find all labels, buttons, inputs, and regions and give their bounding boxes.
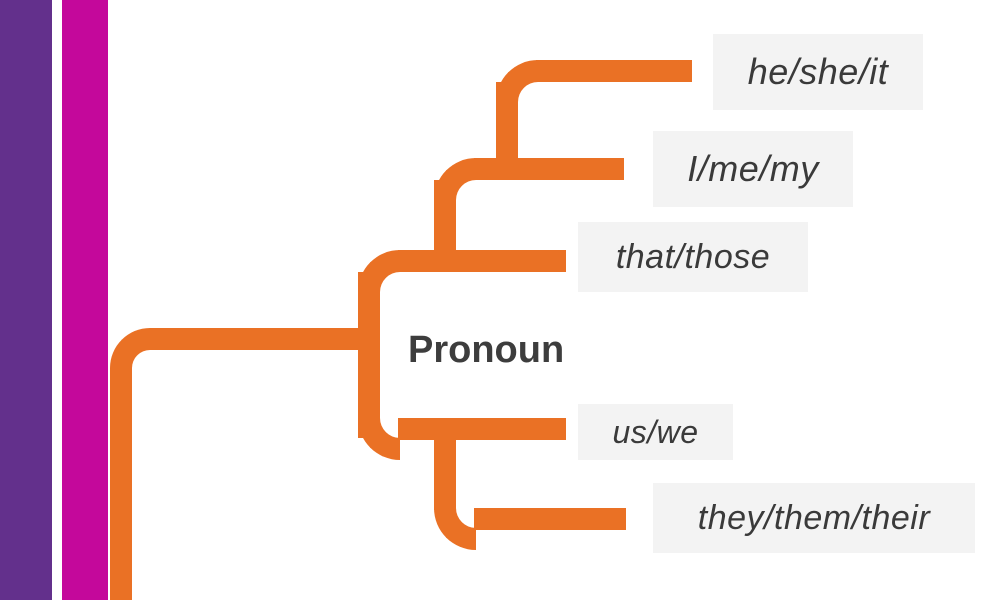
sidebar-magenta-bar — [62, 0, 108, 600]
connector-he-she-it — [536, 60, 692, 82]
mind-map-canvas: Pronoun he/she/it I/me/my that/those us/… — [0, 0, 1000, 600]
leaf-label-us-we[interactable]: us/we — [578, 404, 733, 460]
root-spine-bottom-corner — [358, 418, 400, 460]
lower-subspine-corner — [434, 508, 476, 550]
leaf-label-i-me-my[interactable]: I/me/my — [653, 131, 853, 207]
connector-that-those — [398, 250, 566, 272]
trunk-horizontal-segment — [150, 328, 365, 350]
lower-subspine — [434, 432, 456, 510]
top-subspine-corner — [496, 60, 538, 102]
trunk-corner — [110, 328, 150, 368]
trunk-vertical-segment — [110, 368, 132, 600]
root-node-label[interactable]: Pronoun — [408, 320, 688, 380]
upper-subspine-top-corner — [434, 158, 476, 200]
leaf-label-that-those[interactable]: that/those — [578, 222, 808, 292]
leaf-label-he-she-it[interactable]: he/she/it — [713, 34, 923, 110]
connector-they-them-their — [474, 508, 626, 530]
root-spine — [358, 272, 380, 438]
sidebar-purple-bar — [0, 0, 52, 600]
leaf-label-they-them-their[interactable]: they/them/their — [653, 483, 975, 553]
root-spine-top-corner — [358, 250, 400, 292]
connector-us-we — [398, 418, 566, 440]
